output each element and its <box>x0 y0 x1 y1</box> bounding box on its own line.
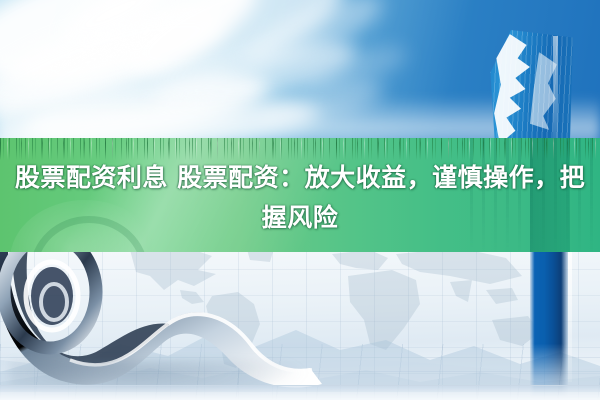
blue-column-edge-highlight <box>568 252 572 382</box>
skyscraper-edge-highlight <box>553 36 558 154</box>
blue-column <box>530 252 568 400</box>
floor-line <box>0 385 600 400</box>
cloud-shape <box>298 38 412 101</box>
cloud-shape <box>236 0 391 83</box>
cloud-shape <box>112 0 358 103</box>
lower-graphic-panel <box>0 252 600 400</box>
headline-text: 股票配资利息 股票配资：放大收益，谨慎操作，把握风险 <box>0 158 600 238</box>
cloud-shape <box>0 0 269 108</box>
grass-blades <box>0 138 600 160</box>
skyscraper-icon <box>487 30 573 155</box>
cloud-shape <box>54 0 179 54</box>
stock-financing-banner: 股票配资利息 股票配资：放大收益，谨慎操作，把握风险 <box>0 0 600 400</box>
